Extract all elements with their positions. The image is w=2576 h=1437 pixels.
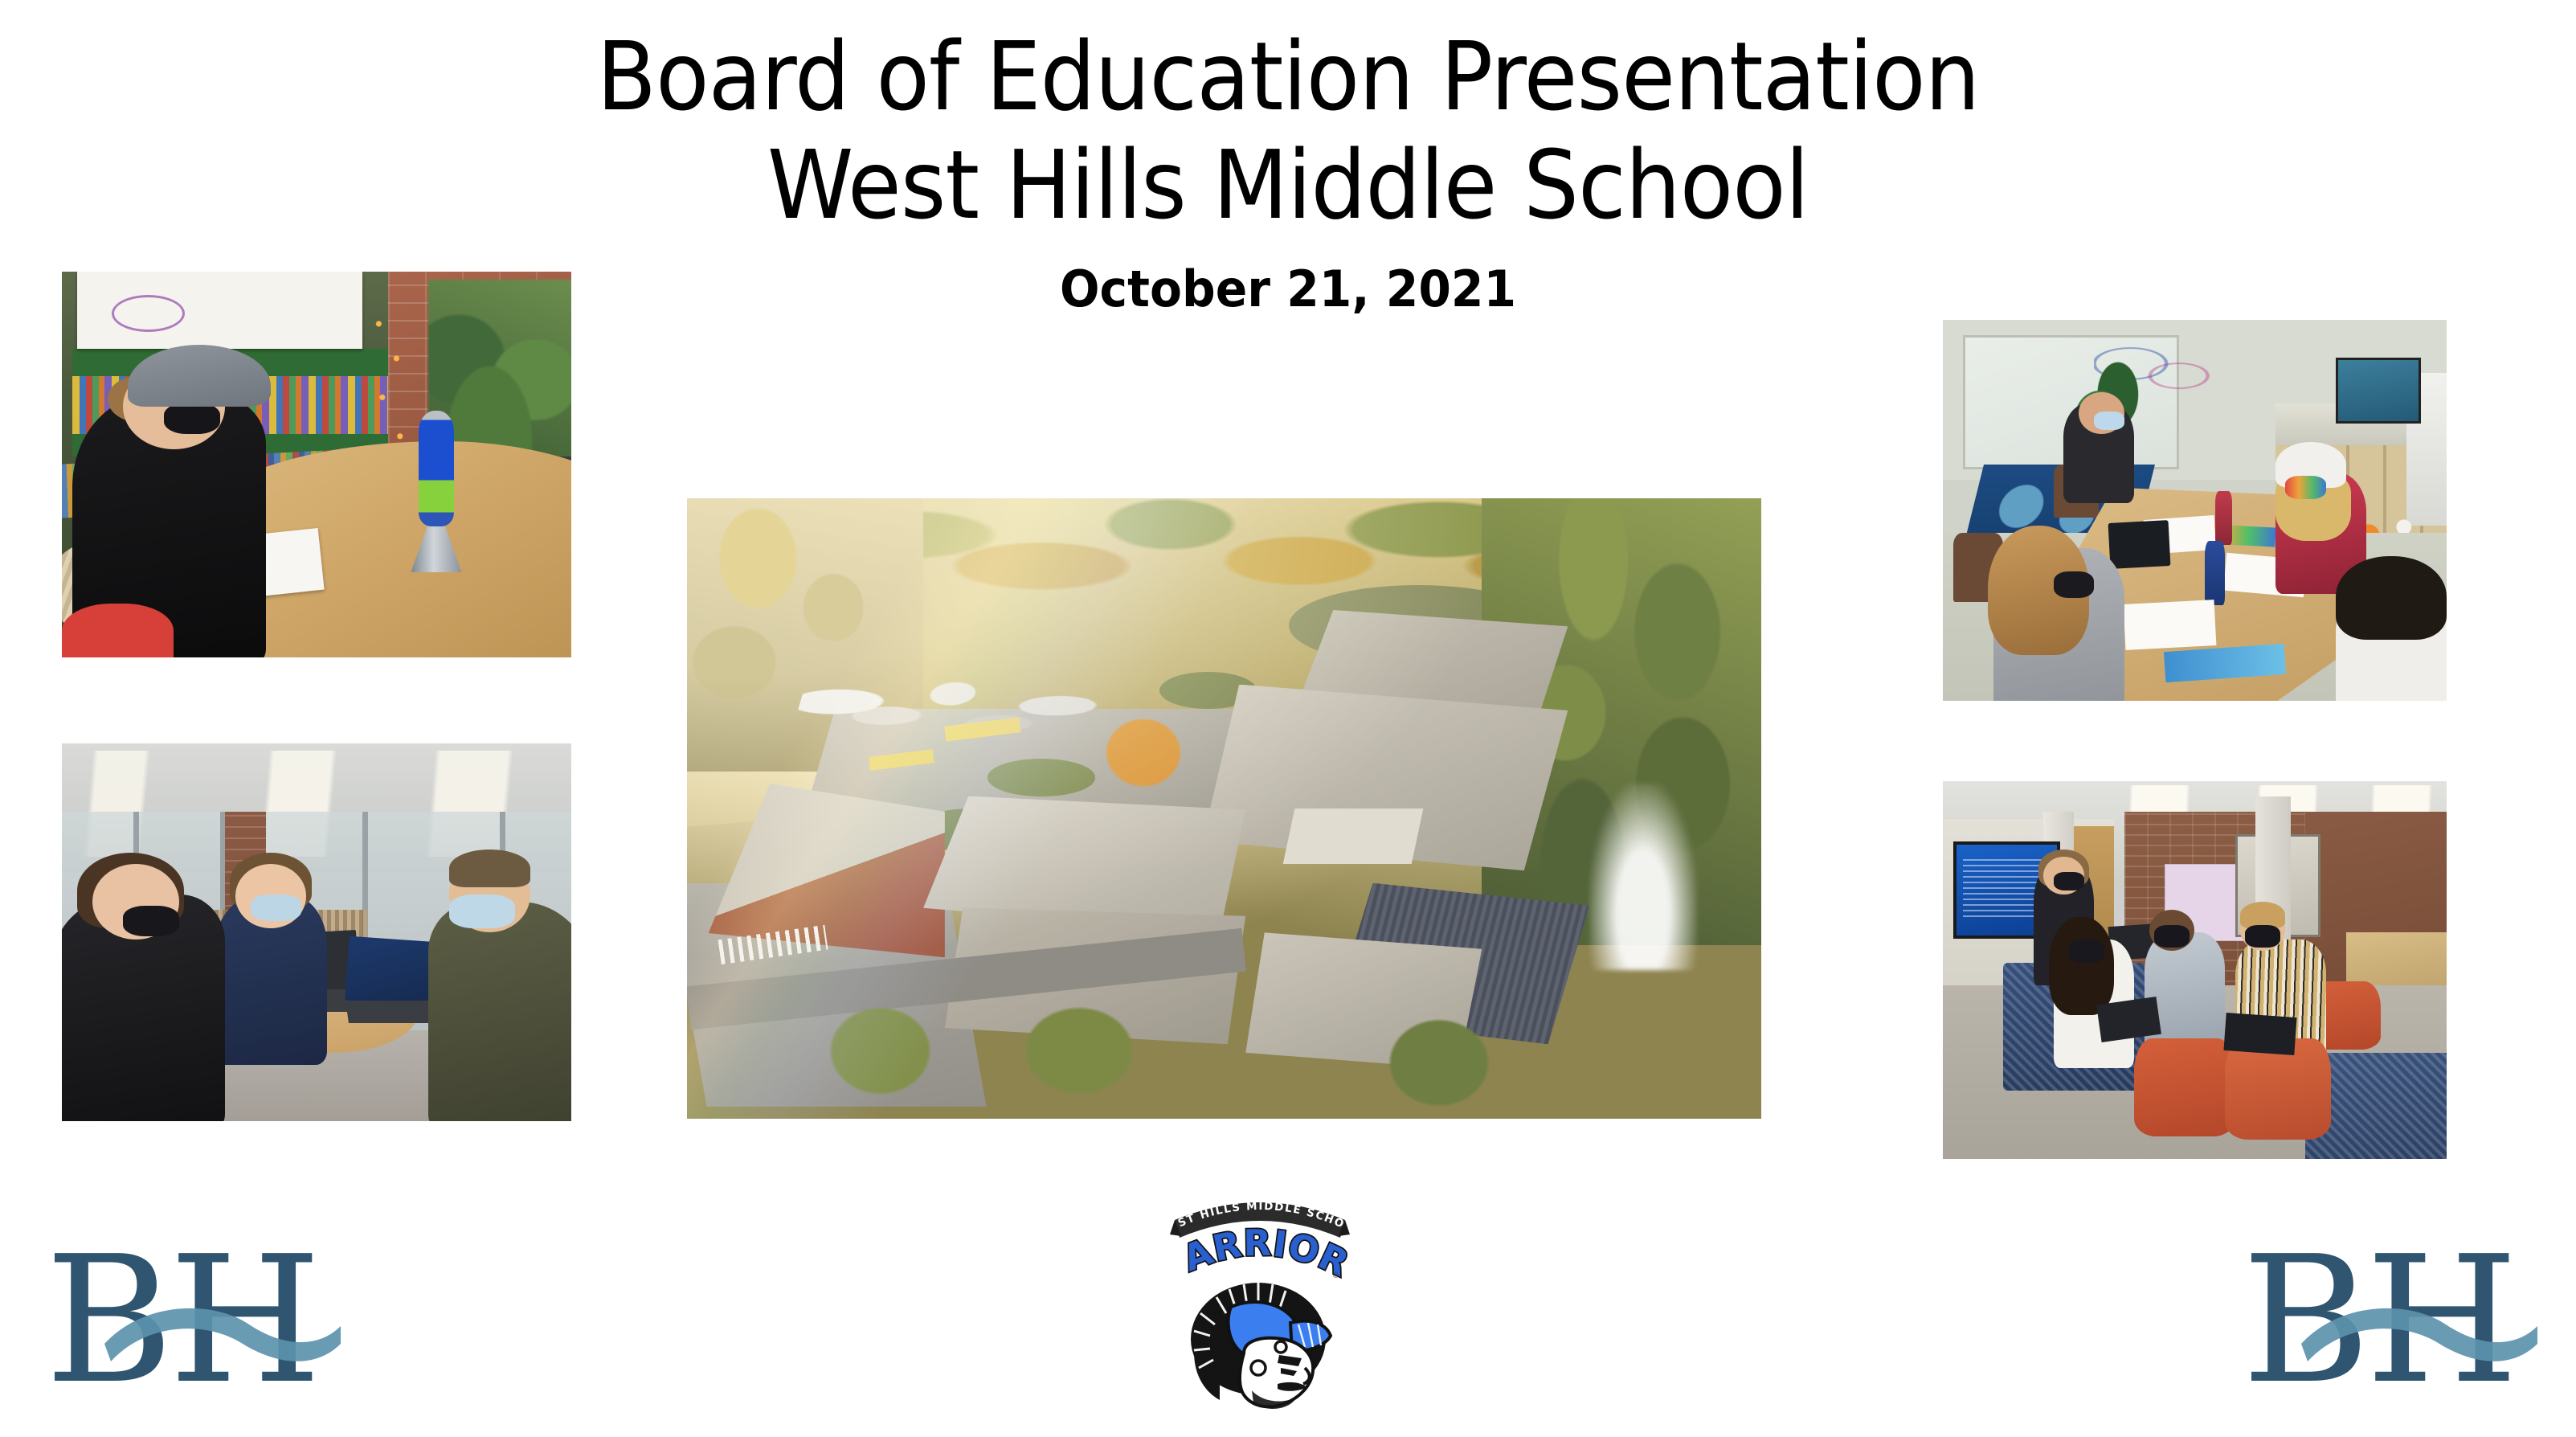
- photo-student-writing: [62, 272, 571, 657]
- photo-library-laptops: [62, 743, 571, 1121]
- photo-commons-lounge: [1943, 781, 2447, 1159]
- photo-classroom-desks: [1943, 320, 2447, 701]
- svg-text:®: ®: [1332, 1272, 1339, 1280]
- photo-aerial-campus: [687, 498, 1761, 1119]
- bh-monogram-icon: BH: [2242, 1223, 2537, 1408]
- bh-district-logo-right: BH: [2239, 1223, 2544, 1408]
- warriors-mascot-logo: WEST HILLS MIDDLE SCHOOL WARRIORS ®: [1167, 1188, 1353, 1421]
- spartan-helmet-icon: [1191, 1283, 1331, 1409]
- page-title: Board of Education Presentation West Hil…: [103, 23, 2473, 239]
- bh-district-logo-left: BH: [42, 1223, 347, 1408]
- bh-monogram-icon: BH: [45, 1223, 341, 1408]
